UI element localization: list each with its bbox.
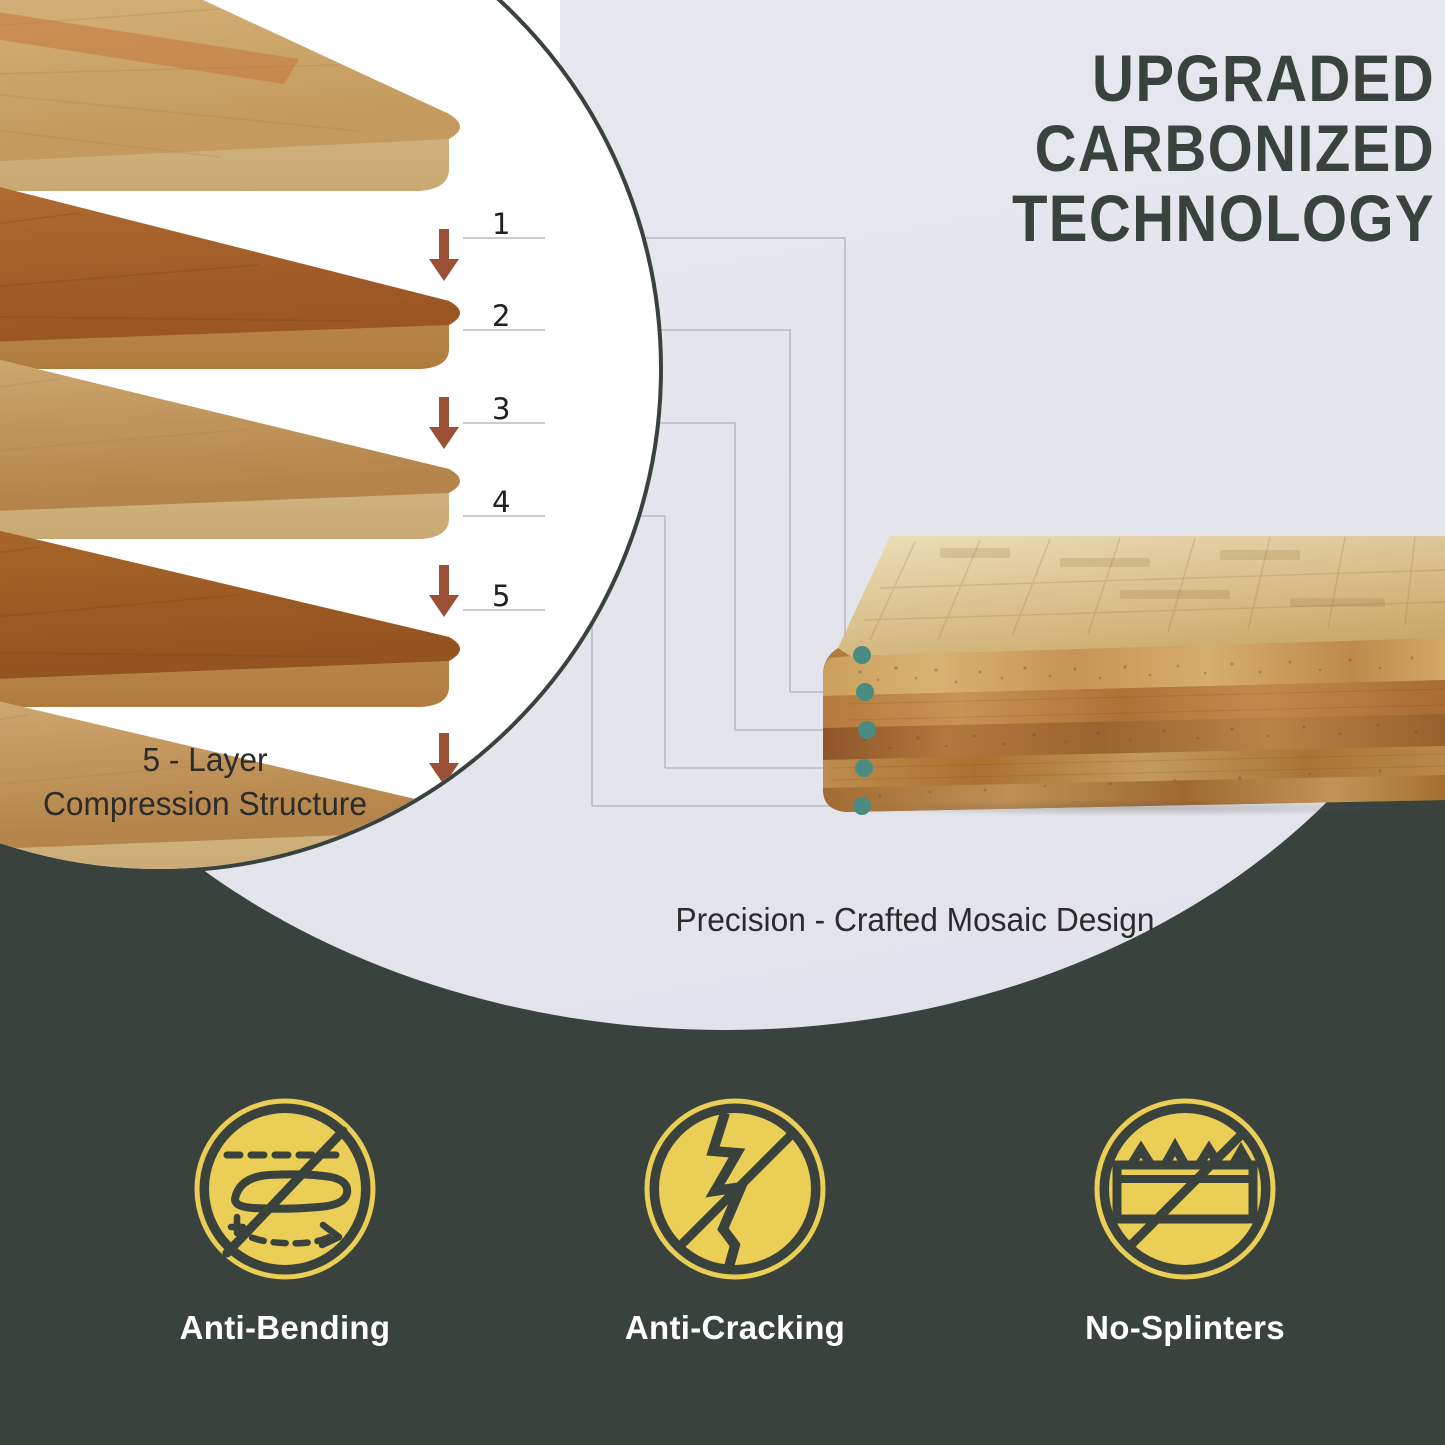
- no-bending-badge: [191, 1095, 379, 1283]
- layer-number-5: 5: [492, 579, 510, 613]
- layer-number-4: 4: [492, 485, 510, 519]
- cutting-board-photo: [820, 528, 1445, 828]
- no-splinters-icon: [1091, 1095, 1279, 1283]
- board-shadow: [840, 800, 1440, 816]
- headline-line-1: UPGRADED CARBONIZED: [678, 44, 1435, 184]
- no-cracking-icon: [641, 1095, 829, 1283]
- feature-anti-cracking: Anti-Cracking: [585, 1095, 885, 1347]
- no-splinters-badge: [1091, 1095, 1279, 1283]
- right-caption: Precision - Crafted Mosaic Design: [536, 898, 1294, 942]
- left-caption: 5 - Layer Compression Structure: [8, 738, 402, 825]
- bamboo-layer-1: [0, 0, 460, 191]
- headline-line-2: TECHNOLOGY: [678, 184, 1435, 254]
- layer-number-3: 3: [492, 392, 510, 426]
- left-caption-line-1: 5 - Layer: [8, 738, 402, 782]
- no-bending-icon: [191, 1095, 379, 1283]
- no-cracking-badge: [641, 1095, 829, 1283]
- features-section: Anti-Bending Anti-Cracking: [0, 990, 1445, 1445]
- feature-label-anti-bending: Anti-Bending: [135, 1309, 435, 1347]
- layer-number-1: 1: [492, 207, 510, 241]
- page-title: UPGRADED CARBONIZED TECHNOLOGY: [678, 44, 1435, 254]
- feature-no-splinters: No-Splinters: [1035, 1095, 1335, 1347]
- left-caption-line-2: Compression Structure: [8, 782, 402, 826]
- infographic-canvas: UPGRADED CARBONIZED TECHNOLOGY 1 2 3 4 5…: [0, 0, 1445, 1445]
- board-illustration: [820, 528, 1445, 828]
- layer-number-2: 2: [492, 299, 510, 333]
- feature-label-no-splinters: No-Splinters: [1035, 1309, 1335, 1347]
- feature-anti-bending: Anti-Bending: [135, 1095, 435, 1347]
- feature-label-anti-cracking: Anti-Cracking: [585, 1309, 885, 1347]
